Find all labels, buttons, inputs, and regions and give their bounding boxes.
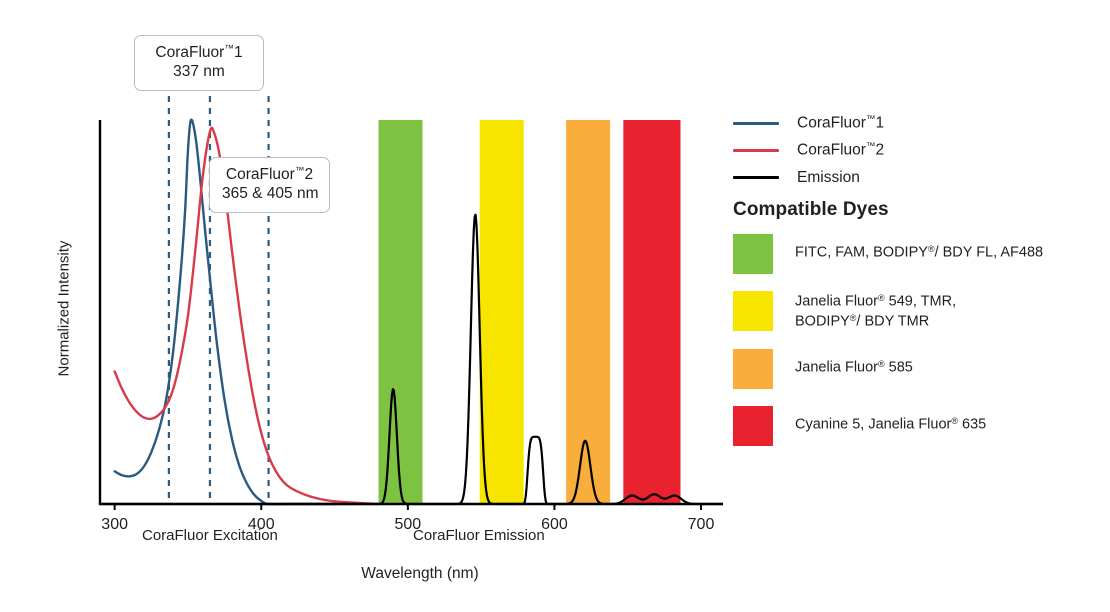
callout-corafluor2-wavelength: 365 & 405 nm [222, 184, 317, 203]
callout-corafluor2-index: 2 [304, 166, 313, 183]
dye-label: FITC, FAM, BODIPY®/ BDY FL, AF488 [795, 234, 1043, 263]
callout-corafluor1-name: CoraFluor [155, 44, 224, 61]
trademark-icon: ™ [295, 166, 305, 177]
registered-icon: ® [928, 244, 935, 254]
callout-corafluor2-line1: CoraFluor™2 [222, 165, 317, 184]
trademark-icon: ™ [224, 44, 234, 55]
callout-corafluor1-index: 1 [234, 44, 243, 61]
x-tick-label-600: 600 [541, 516, 568, 533]
callout-corafluor2-name: CoraFluor [226, 166, 295, 183]
callout-corafluor1-wavelength: 337 nm [147, 62, 251, 81]
x-axis-sublabel-emission: CoraFluor Emission [413, 527, 545, 544]
dye-row: Janelia Fluor® 549, TMR,BODIPY®/ BDY TMR [733, 291, 1093, 332]
legend-item-corafluor1-label: CoraFluor™1 [797, 114, 884, 132]
compatible-dyes-title: Compatible Dyes [733, 199, 889, 221]
trademark-icon: ™ [866, 114, 876, 125]
legend-line-swatch [733, 149, 779, 152]
legend-item-emission: Emission [733, 164, 1083, 191]
dye-color-swatch [733, 234, 773, 274]
dye-label-line: Janelia Fluor® 549, TMR, [795, 292, 956, 312]
dye-label: Janelia Fluor® 549, TMR,BODIPY®/ BDY TMR [795, 291, 956, 332]
registered-icon: ® [878, 293, 885, 303]
x-tick-label-300: 300 [101, 516, 128, 533]
dye-label: Janelia Fluor® 585 [795, 349, 913, 378]
legend-item-corafluor1: CoraFluor™1 [733, 110, 1083, 137]
dye-band-red [623, 120, 680, 504]
dye-color-swatch [733, 349, 773, 389]
callout-corafluor1-line1: CoraFluor™1 [147, 43, 251, 62]
x-axis-title: Wavelength (nm) [290, 565, 550, 583]
y-axis-title: Normalized Intensity [56, 219, 73, 399]
dye-row: Janelia Fluor® 585 [733, 349, 1093, 389]
dye-color-swatch [733, 291, 773, 331]
dye-label-line: FITC, FAM, BODIPY®/ BDY FL, AF488 [795, 243, 1043, 263]
callout-corafluor1: CoraFluor™1 337 nm [134, 35, 264, 91]
x-tick-label-700: 700 [688, 516, 715, 533]
dye-label-line: Cyanine 5, Janelia Fluor® 635 [795, 415, 986, 435]
trademark-icon: ™ [866, 141, 876, 152]
legend-line-swatch [733, 176, 779, 179]
legend-line-swatch [733, 122, 779, 125]
registered-icon: ® [951, 416, 958, 426]
registered-icon: ® [878, 359, 885, 369]
compatible-dyes-list: FITC, FAM, BODIPY®/ BDY FL, AF488Janelia… [733, 234, 1093, 463]
dye-label-line: Janelia Fluor® 585 [795, 358, 913, 378]
dye-color-swatch [733, 406, 773, 446]
dye-label-line: BODIPY®/ BDY TMR [795, 312, 956, 332]
dye-row: FITC, FAM, BODIPY®/ BDY FL, AF488 [733, 234, 1093, 274]
dye-band-green [379, 120, 423, 504]
registered-icon: ® [850, 313, 857, 323]
legend-item-corafluor2: CoraFluor™2 [733, 137, 1083, 164]
x-axis-sublabel-excitation: CoraFluor Excitation [142, 527, 278, 544]
dye-label: Cyanine 5, Janelia Fluor® 635 [795, 406, 986, 435]
dye-band-yellow [480, 120, 524, 504]
fluorescence-spectra-figure: 300400500600700 CoraFluor™1 337 nm CoraF… [0, 0, 1110, 612]
legend-item-emission-label: Emission [797, 169, 860, 187]
callout-corafluor2: CoraFluor™2 365 & 405 nm [209, 157, 330, 213]
legend-item-corafluor2-label: CoraFluor™2 [797, 141, 884, 159]
series-legend: CoraFluor™1 CoraFluor™2 Emission [733, 110, 1083, 191]
dye-row: Cyanine 5, Janelia Fluor® 635 [733, 406, 1093, 446]
